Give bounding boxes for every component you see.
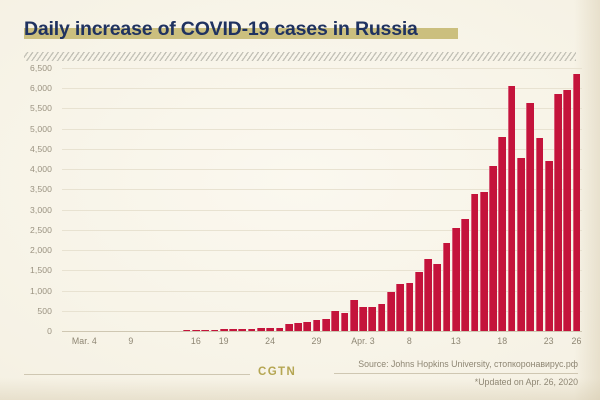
bar bbox=[331, 311, 339, 331]
bar bbox=[489, 166, 497, 331]
bar bbox=[461, 219, 469, 331]
bar bbox=[257, 328, 265, 331]
bar bbox=[368, 307, 376, 331]
bar bbox=[536, 138, 544, 331]
x-axis-tick-label: Mar. 4 bbox=[72, 336, 97, 346]
bar bbox=[443, 243, 451, 331]
x-axis-tick-label: 13 bbox=[451, 336, 461, 346]
x-axis-tick-label: 9 bbox=[128, 336, 133, 346]
bar bbox=[396, 284, 404, 331]
bar bbox=[313, 320, 321, 331]
bar bbox=[183, 330, 191, 331]
x-axis-tick-label: 8 bbox=[407, 336, 412, 346]
bar bbox=[517, 158, 525, 331]
title-container: Daily increase of COVID-19 cases in Russ… bbox=[24, 16, 418, 42]
bar bbox=[359, 307, 367, 331]
bar bbox=[294, 323, 302, 331]
bar bbox=[276, 328, 284, 331]
x-axis-tick-label: 23 bbox=[544, 336, 554, 346]
y-axis-tick-label: 0 bbox=[47, 326, 52, 336]
y-axis-tick-label: 5,500 bbox=[30, 103, 52, 113]
y-axis-tick-label: 500 bbox=[37, 306, 52, 316]
bar bbox=[378, 304, 386, 331]
page-title: Daily increase of COVID-19 cases in Russ… bbox=[24, 16, 418, 42]
bar bbox=[229, 329, 237, 331]
x-axis-tick-label: 24 bbox=[265, 336, 275, 346]
x-axis-tick-label: Apr. 3 bbox=[351, 336, 375, 346]
bar bbox=[406, 283, 414, 331]
bar bbox=[322, 319, 330, 331]
bar bbox=[201, 330, 209, 331]
bar bbox=[285, 324, 293, 331]
hatched-divider bbox=[24, 52, 576, 61]
cgtn-logo: CGTN bbox=[258, 366, 296, 378]
bar bbox=[220, 329, 228, 331]
bar bbox=[554, 94, 562, 331]
x-axis-tick-label: 16 bbox=[191, 336, 201, 346]
gridline bbox=[62, 331, 582, 332]
bar bbox=[480, 192, 488, 332]
bar bbox=[508, 86, 516, 331]
source-rule bbox=[334, 373, 578, 374]
bar bbox=[526, 103, 534, 331]
y-axis-tick-label: 2,000 bbox=[30, 245, 52, 255]
y-axis-tick-label: 2,500 bbox=[30, 225, 52, 235]
y-axis-tick-label: 1,500 bbox=[30, 265, 52, 275]
bar-series bbox=[62, 68, 582, 331]
bar bbox=[387, 292, 395, 331]
y-axis-tick-label: 4,000 bbox=[30, 164, 52, 174]
y-axis-tick-label: 6,500 bbox=[30, 63, 52, 73]
bar bbox=[498, 137, 506, 331]
bar bbox=[341, 313, 349, 331]
bar bbox=[471, 194, 479, 331]
plot-area bbox=[62, 68, 582, 331]
x-axis-labels: Mar. 4916192429Apr. 3813182326 bbox=[62, 336, 582, 350]
x-axis-tick-label: 18 bbox=[497, 336, 507, 346]
bar bbox=[238, 329, 246, 331]
y-axis-tick-label: 3,500 bbox=[30, 184, 52, 194]
bar bbox=[266, 328, 274, 331]
logo-rule bbox=[24, 374, 250, 375]
bar bbox=[211, 330, 219, 331]
y-axis-tick-label: 1,000 bbox=[30, 286, 52, 296]
x-axis-tick-label: 26 bbox=[572, 336, 582, 346]
bar bbox=[573, 74, 581, 331]
bar bbox=[303, 322, 311, 331]
bar bbox=[248, 329, 256, 331]
y-axis-tick-label: 5,000 bbox=[30, 124, 52, 134]
bar bbox=[192, 330, 200, 331]
source-text: Source: Johns Hopkins University, стопко… bbox=[358, 359, 578, 369]
updated-text: *Updated on Apr. 26, 2020 bbox=[475, 377, 578, 387]
bar bbox=[433, 264, 441, 331]
y-axis-tick-label: 4,500 bbox=[30, 144, 52, 154]
bar bbox=[415, 272, 423, 331]
bar bbox=[563, 90, 571, 331]
y-axis-labels: 05001,0001,5002,0002,5003,0003,5004,0004… bbox=[0, 68, 58, 331]
bar bbox=[424, 259, 432, 331]
bar bbox=[452, 228, 460, 332]
x-axis-tick-label: 19 bbox=[219, 336, 229, 346]
bar bbox=[350, 300, 358, 331]
bar bbox=[545, 161, 553, 331]
y-axis-tick-label: 6,000 bbox=[30, 83, 52, 93]
y-axis-tick-label: 3,000 bbox=[30, 205, 52, 215]
x-axis-tick-label: 29 bbox=[312, 336, 322, 346]
